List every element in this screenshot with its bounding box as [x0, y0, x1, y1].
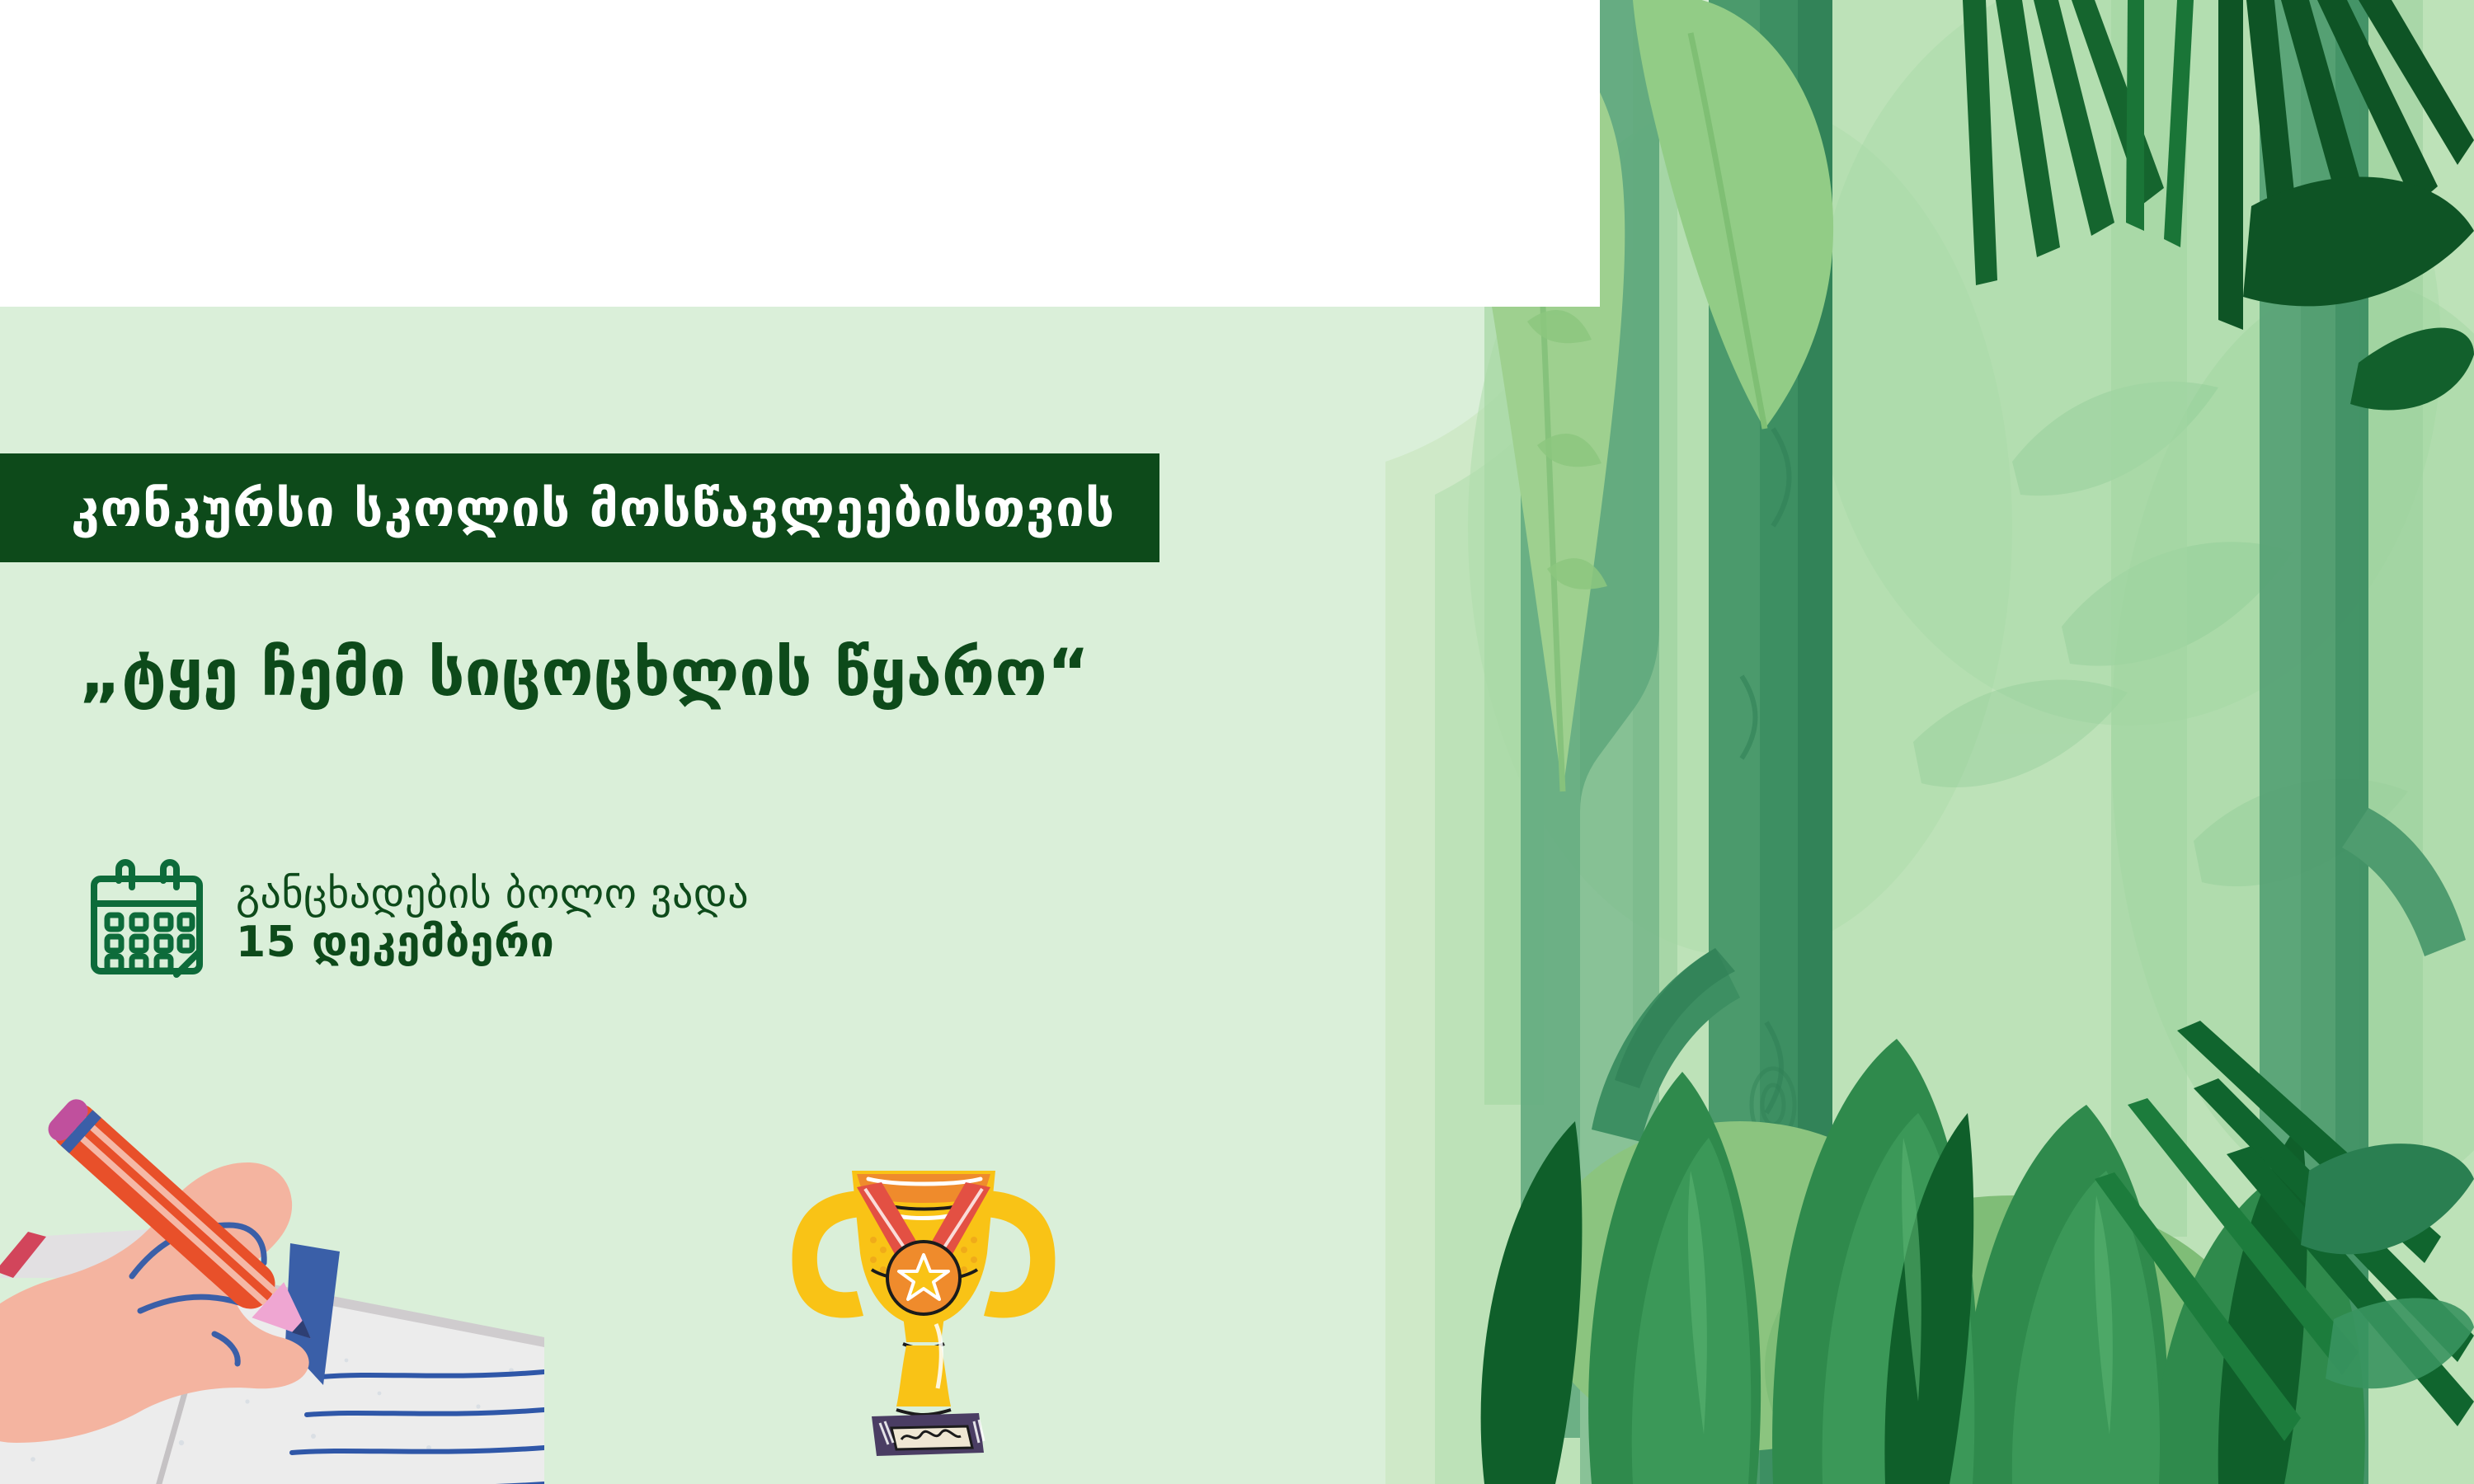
calendar-icon: [91, 857, 203, 981]
deadline-block: განცხადების ბოლო ვადა 15 დეკემბერი: [91, 857, 749, 981]
contest-subtitle: „ტყე ჩემი სიცოცხლის წყარო“: [79, 636, 1089, 711]
banner-title: კონკურსი სკოლის მოსწავლეებისთვის: [71, 478, 1115, 538]
poster-root: ♘ გარემოს დაცვისა და სოფლის მეურნეობის ს…: [0, 0, 2474, 1484]
title-banner: კონკურსი სკოლის მოსწავლეებისთვის: [0, 453, 1159, 562]
deadline-label: განცხადების ბოლო ვადა: [236, 871, 749, 918]
forest-background-illustration: [1385, 0, 2474, 1484]
sponsor-logo-panel: [0, 0, 1476, 307]
trophy-illustration: [771, 1154, 1076, 1484]
deadline-date: 15 დეკემბერი: [236, 918, 749, 968]
hand-writing-in-notebook-illustration: [0, 1031, 544, 1484]
